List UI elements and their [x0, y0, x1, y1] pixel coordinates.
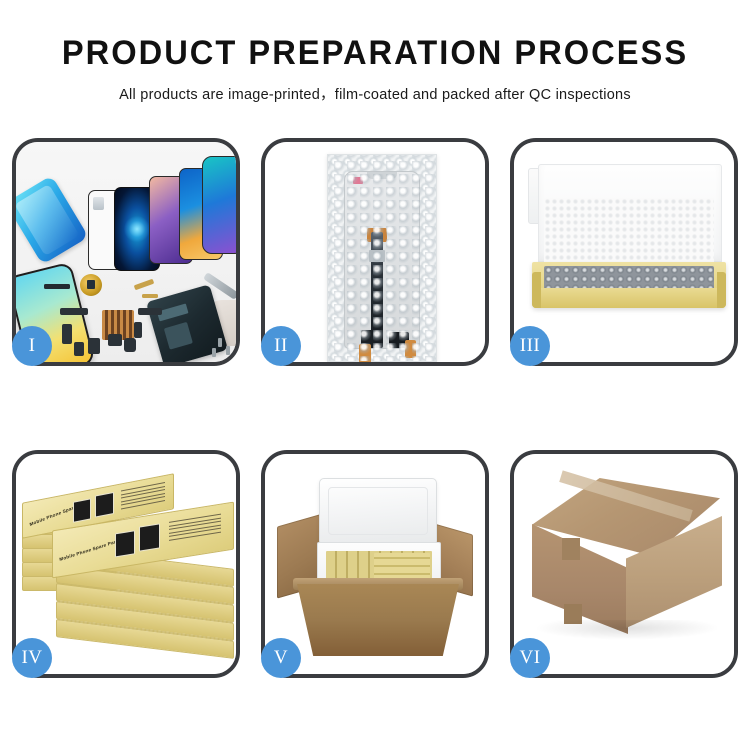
gold-flex-part-2 [142, 294, 158, 298]
process-step-panel-5: V [261, 450, 489, 678]
flex-cable-5 [88, 338, 100, 354]
white-foam-sheet [544, 198, 714, 272]
step-badge-6: VI [510, 638, 550, 678]
screw-part-1 [218, 338, 222, 347]
gold-flex-part-1 [134, 279, 155, 291]
yellow-box-tray [532, 262, 726, 308]
phone-blue-tilted [16, 175, 89, 265]
earpiece-part [44, 284, 70, 289]
box-print-phone-2a [115, 530, 135, 557]
flex-cable-1 [60, 308, 88, 315]
product-preparation-infographic: PRODUCT PREPARATION PROCESS All products… [0, 0, 750, 750]
step-1-image [16, 142, 236, 362]
bubble-texture-overlay [328, 155, 436, 361]
flex-cable-6 [108, 334, 122, 346]
process-step-panel-6: VI [510, 450, 738, 678]
bubble-wrap-bag [327, 154, 437, 362]
carton-front-panel [297, 584, 459, 656]
foam-box-lid [319, 478, 437, 546]
screw-part-2 [226, 346, 230, 355]
step-badge-5: V [261, 638, 301, 678]
step-badge-2: II [261, 326, 301, 366]
page-subtitle: All products are image-printed，film-coat… [0, 83, 750, 104]
process-step-panel-2: II [261, 138, 489, 366]
step-5-image [265, 454, 485, 674]
step-4-image: Mobile Phone Spare Parts Mobile Phone Sp… [16, 454, 236, 674]
sim-tray-part [74, 342, 84, 356]
box-print-label-2: Mobile Phone Spare Parts [59, 538, 121, 562]
step-badge-3: III [510, 326, 550, 366]
step-badge-4: IV [12, 638, 52, 678]
step-6-image [514, 454, 734, 674]
screw-part-3 [212, 348, 216, 357]
process-step-panel-4: Mobile Phone Spare Parts Mobile Phone Sp… [12, 450, 240, 678]
phone-teal-gradient [202, 156, 236, 254]
page-title: PRODUCT PREPARATION PROCESS [15, 36, 735, 70]
speaker-coil-part [80, 274, 102, 296]
flex-cable-4 [134, 322, 142, 338]
box-print-speclines-2 [169, 514, 221, 543]
tray-front-rim [532, 288, 726, 308]
process-step-panel-3: III [510, 138, 738, 366]
box-print-phone-1b [95, 492, 114, 518]
flex-cable-2 [62, 324, 72, 344]
box-print-speclines-1 [121, 482, 165, 512]
step-badge-1: I [12, 326, 52, 366]
process-steps-grid: I [12, 138, 738, 678]
process-step-panel-1: I [12, 138, 240, 366]
box-print-phone-2b [139, 523, 160, 551]
carton-ground-shadow [534, 620, 720, 640]
tray-corner-right [717, 272, 726, 308]
step-2-image [265, 142, 485, 362]
camera-module-part [124, 338, 136, 352]
flex-cable-3 [138, 308, 162, 315]
header: PRODUCT PREPARATION PROCESS All products… [0, 0, 750, 104]
box-print-phone-1a [73, 498, 91, 522]
carton-seam-tab-top [562, 538, 580, 560]
tray-corner-left [532, 272, 541, 308]
step-3-image [514, 142, 734, 362]
